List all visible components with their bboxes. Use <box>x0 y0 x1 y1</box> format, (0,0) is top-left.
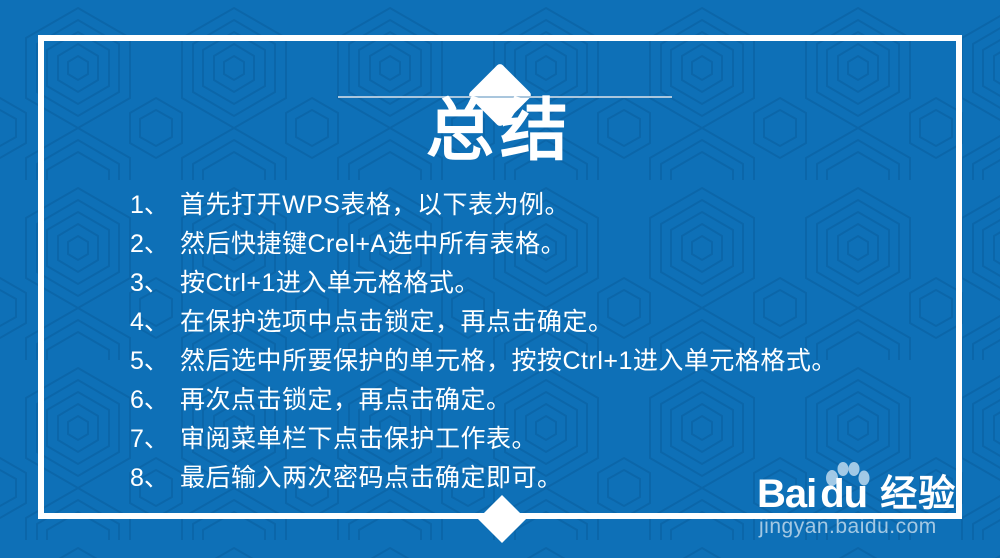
list-item-text: 首先打开WPS表格，以下表为例。 <box>180 186 570 225</box>
watermark-url-text: jingyan.baidu.com <box>759 514 937 540</box>
page-title: 总结 <box>0 92 1000 170</box>
slide-canvas: 总结 1、 首先打开WPS表格，以下表为例。 2、 然后快捷键Crel+A选中所… <box>0 0 1000 558</box>
list-item-text: 再次点击锁定，再点击确定。 <box>180 381 512 420</box>
list-item-number: 7、 <box>130 420 180 459</box>
list-item: 3、 按Ctrl+1进入单元格格式。 <box>130 264 930 303</box>
list-item: 1、 首先打开WPS表格，以下表为例。 <box>130 186 930 225</box>
list-item-number: 5、 <box>130 342 180 381</box>
list-item-number: 6、 <box>130 381 180 420</box>
watermark-bai-text: Bai <box>757 474 816 514</box>
baidu-jingyan-watermark: Bai du 经验 jingyan.baidu.com <box>757 462 972 546</box>
list-item: 2、 然后快捷键Crel+A选中所有表格。 <box>130 225 930 264</box>
list-item: 7、 审阅菜单栏下点击保护工作表。 <box>130 420 930 459</box>
list-item-number: 4、 <box>130 303 180 342</box>
list-item-text: 然后选中所要保护的单元格，按按Ctrl+1进入单元格格式。 <box>180 342 837 381</box>
list-item-text: 然后快捷键Crel+A选中所有表格。 <box>180 225 566 264</box>
list-item-number: 2、 <box>130 225 180 264</box>
list-item-text: 在保护选项中点击锁定，再点击确定。 <box>180 303 614 342</box>
list-item-number: 3、 <box>130 264 180 303</box>
watermark-logo-row: Bai du 经验 <box>757 462 956 514</box>
watermark-du-text: du <box>820 474 867 514</box>
list-item: 5、 然后选中所要保护的单元格，按按Ctrl+1进入单元格格式。 <box>130 342 930 381</box>
list-item-number: 1、 <box>130 186 180 225</box>
list-item-text: 审阅菜单栏下点击保护工作表。 <box>180 420 537 459</box>
watermark-paw-group: du <box>818 466 874 514</box>
list-item-text: 按Ctrl+1进入单元格格式。 <box>180 264 480 303</box>
list-item-text: 最后输入两次密码点击确定即可。 <box>180 459 563 498</box>
list-item: 4、 在保护选项中点击锁定，再点击确定。 <box>130 303 930 342</box>
summary-steps-list: 1、 首先打开WPS表格，以下表为例。 2、 然后快捷键Crel+A选中所有表格… <box>130 186 930 498</box>
watermark-jingyan-text: 经验 <box>880 474 956 514</box>
list-item-number: 8、 <box>130 459 180 498</box>
list-item: 6、 再次点击锁定，再点击确定。 <box>130 381 930 420</box>
